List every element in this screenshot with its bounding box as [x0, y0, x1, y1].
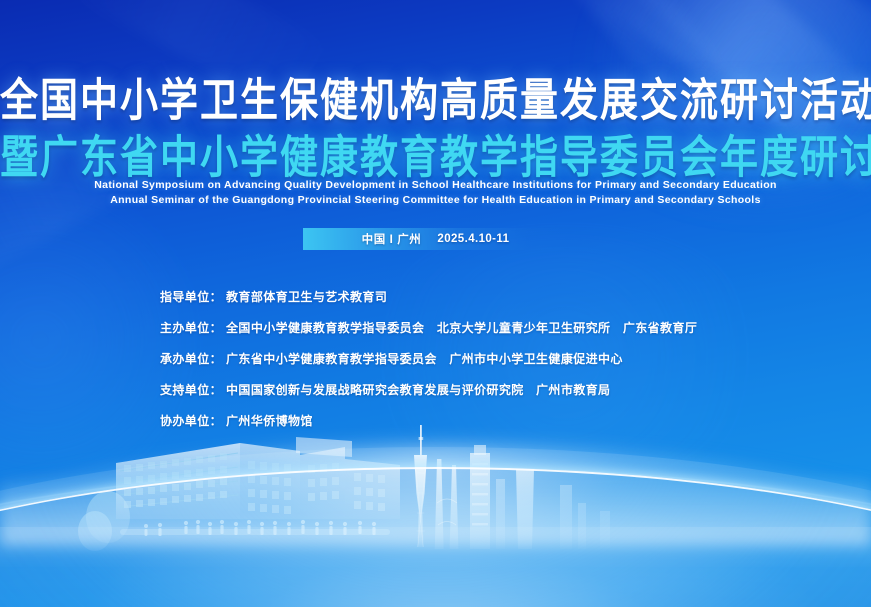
organizer-list: 指导单位： 教育部体育卫生与艺术教育司 主办单位： 全国中小学健康教育教学指导委…	[160, 288, 820, 443]
organizer-row: 指导单位： 教育部体育卫生与艺术教育司	[160, 288, 820, 305]
organizer-row: 承办单位： 广东省中小学健康教育教学指导委员会 广州市中小学卫生健康促进中心	[160, 350, 820, 367]
organizer-row: 协办单位： 广州华侨博物馆	[160, 412, 820, 429]
organizer-row: 主办单位： 全国中小学健康教育教学指导委员会 北京大学儿童青少年卫生研究所 广东…	[160, 319, 820, 336]
event-banner-inner: 中国 I 广州 2025.4.10-11	[303, 228, 569, 250]
organizer-label: 承办单位：	[160, 350, 222, 367]
organizer-value: 教育部体育卫生与艺术教育司	[226, 288, 387, 305]
organizer-value: 中国国家创新与发展战略研究会教育发展与评价研究院 广州市教育局	[226, 381, 610, 398]
organizer-value: 广州华侨博物馆	[226, 412, 313, 429]
organizer-value: 广东省中小学健康教育教学指导委员会 广州市中小学卫生健康促进中心	[226, 350, 623, 367]
subtitle-line-1: National Symposium on Advancing Quality …	[0, 178, 871, 193]
organizer-label: 指导单位：	[160, 288, 222, 305]
poster-subtitle-english: National Symposium on Advancing Quality …	[0, 178, 871, 208]
conference-poster: 全国中小学卫生保健机构高质量发展交流研讨活动 暨广东省中小学健康教育教学指导委员…	[0, 0, 871, 607]
poster-title: 全国中小学卫生保健机构高质量发展交流研讨活动 暨广东省中小学健康教育教学指导委员…	[0, 74, 871, 177]
event-location: 中国 I 广州	[362, 231, 422, 247]
organizer-label: 协办单位：	[160, 412, 222, 429]
title-line-primary: 全国中小学卫生保健机构高质量发展交流研讨活动	[0, 74, 871, 128]
organizer-value: 全国中小学健康教育教学指导委员会 北京大学儿童青少年卫生研究所 广东省教育厅	[226, 319, 697, 336]
organizer-label: 支持单位：	[160, 381, 222, 398]
horizon-haze	[0, 475, 871, 545]
subtitle-line-2: Annual Seminar of the Guangdong Provinci…	[0, 193, 871, 208]
event-banner: 中国 I 广州 2025.4.10-11	[0, 228, 871, 250]
organizer-label: 主办单位：	[160, 319, 222, 336]
organizer-row: 支持单位： 中国国家创新与发展战略研究会教育发展与评价研究院 广州市教育局	[160, 381, 820, 398]
event-date: 2025.4.10-11	[437, 233, 509, 245]
